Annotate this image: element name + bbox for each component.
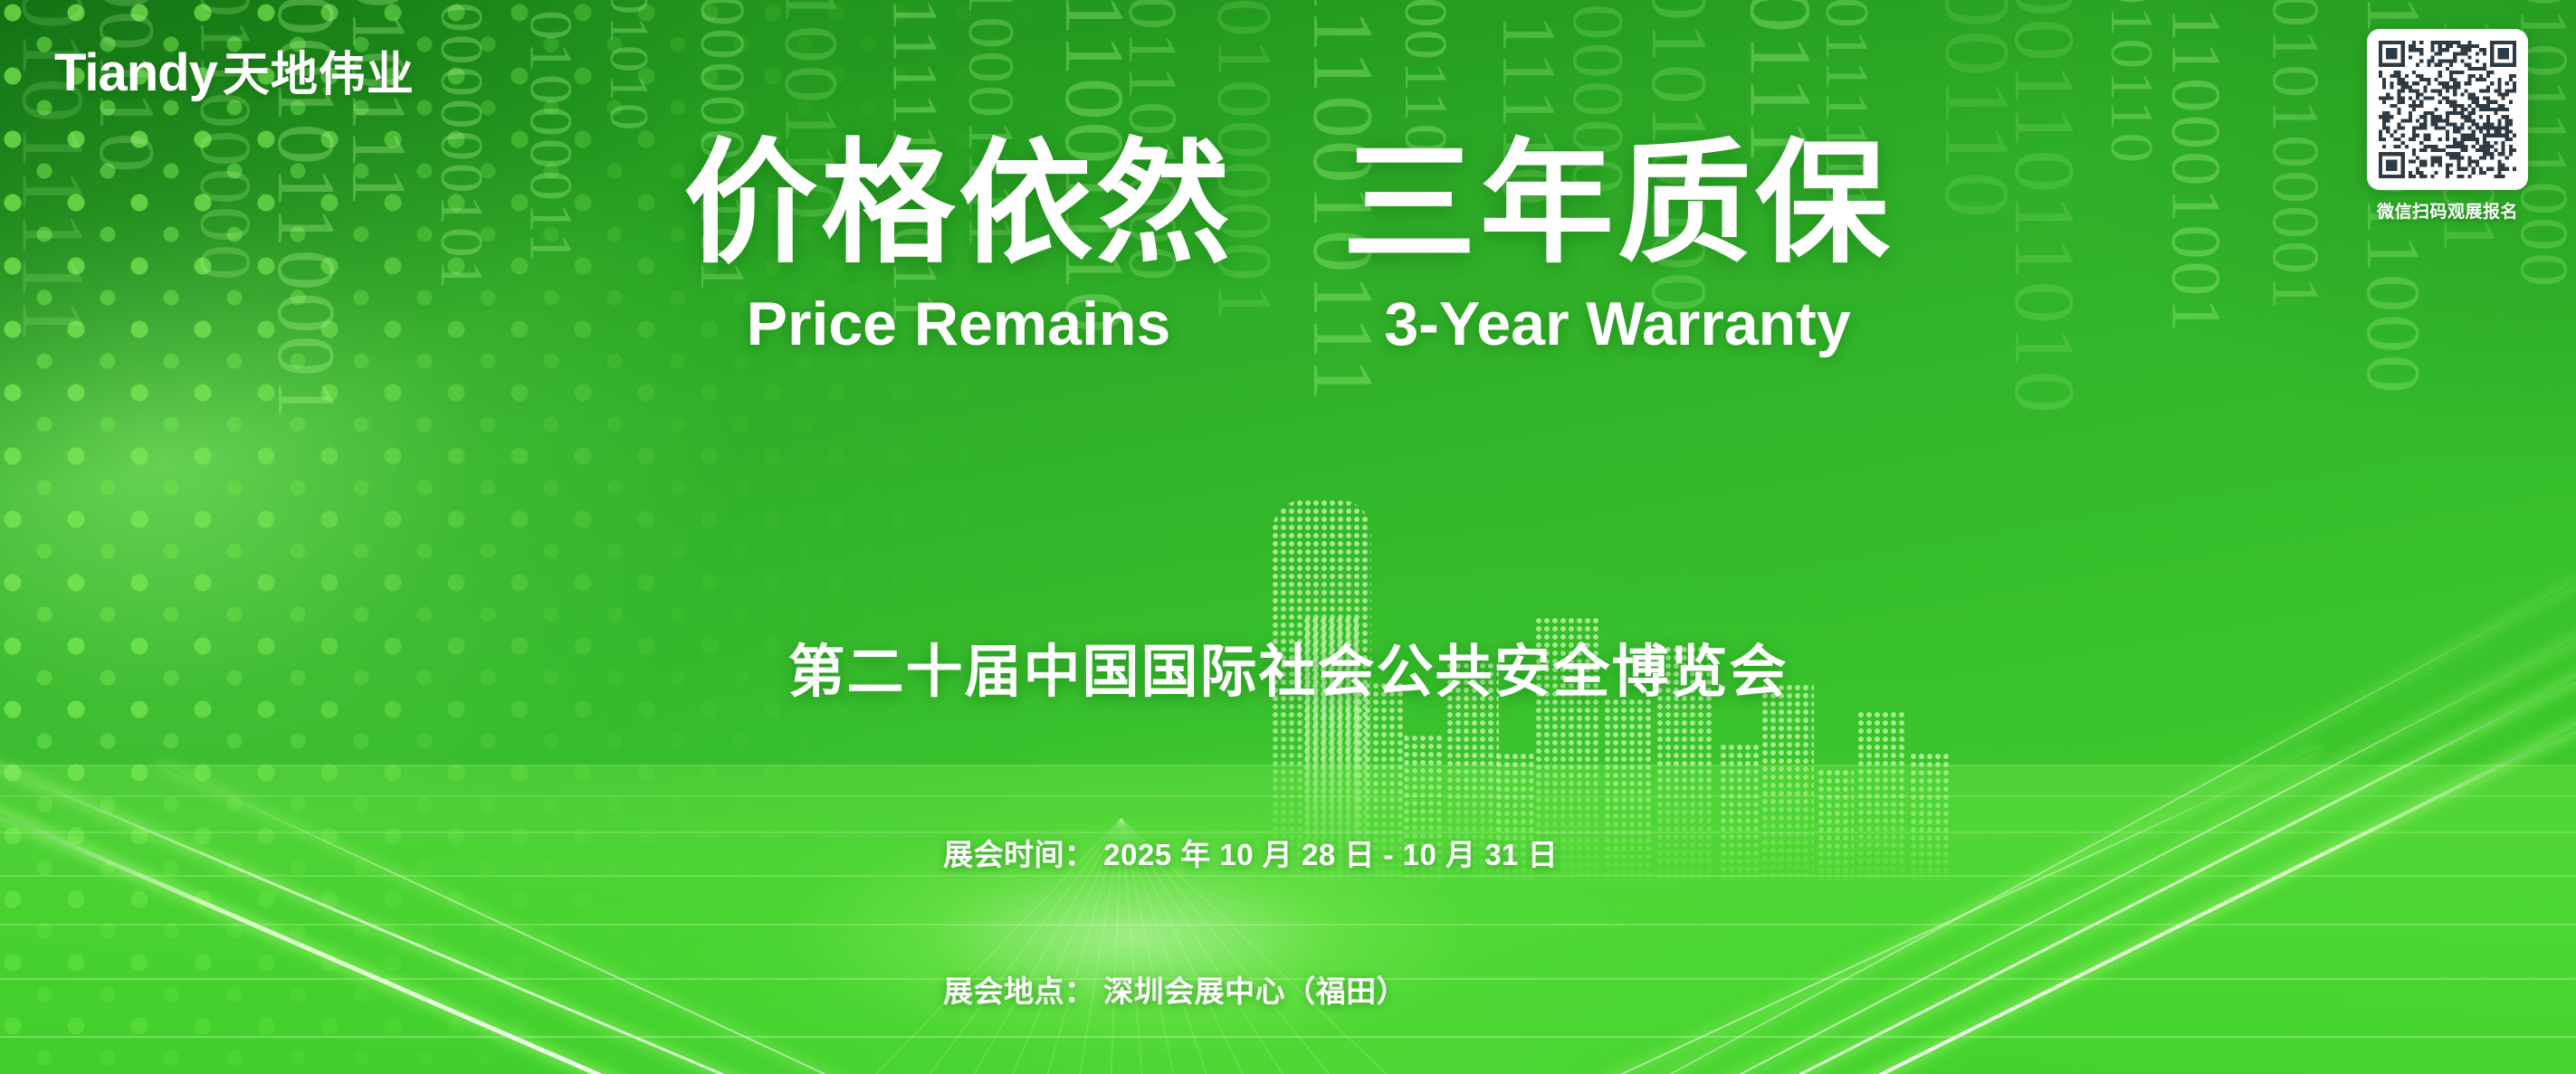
headline-warranty-en: 3-Year Warranty <box>1342 289 1893 359</box>
headline-warranty: 三年质保 3-Year Warranty <box>1342 134 1893 359</box>
expo-title: 第二十届中国国际社会公共安全博览会 <box>0 626 2576 708</box>
headline-row: 价格依然 Price Remains 三年质保 3-Year Warranty <box>0 134 2576 359</box>
expo-date-line: 展会时间： 2025 年 10 月 28 日 - 10 月 31 日 <box>943 832 1558 878</box>
headline-price-cn: 价格依然 <box>683 134 1234 274</box>
logo-text-cn: 天地伟业 <box>223 36 415 104</box>
logo-text-en: Tiandy <box>54 43 217 103</box>
promo-banner: 0101111100011001100000001011000110101111… <box>0 0 2576 1074</box>
expo-details: 展会时间： 2025 年 10 月 28 日 - 10 月 31 日 展会地点：… <box>943 742 1558 1074</box>
headline-warranty-cn: 三年质保 <box>1342 134 1893 274</box>
tiandy-logo: Tiandy 天地伟业 <box>54 36 415 104</box>
expo-venue-line: 展会地点： 深圳会展中心（福田） <box>943 969 1558 1014</box>
headline-price: 价格依然 Price Remains <box>683 134 1234 359</box>
headline-price-en: Price Remains <box>683 289 1234 359</box>
